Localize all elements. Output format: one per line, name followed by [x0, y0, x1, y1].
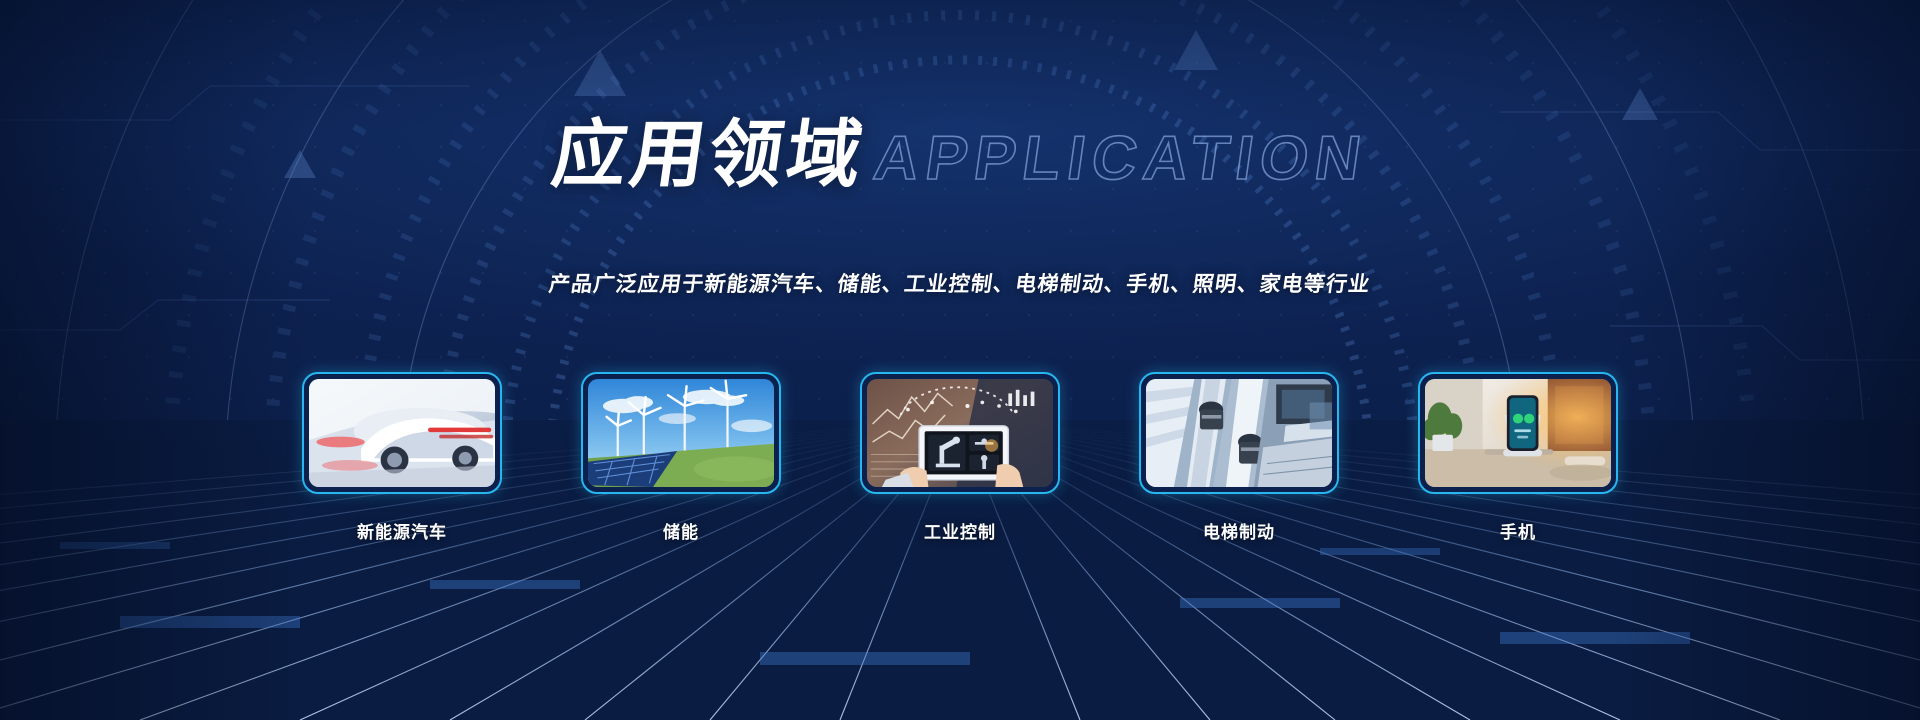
- industrial-control-icon: [867, 379, 1053, 487]
- banner-heading: 应用领域 APPLICATION: [0, 118, 1920, 192]
- page-title-english: APPLICATION: [869, 128, 1371, 192]
- elevator-brake-icon: [1146, 379, 1332, 487]
- energy-storage-icon: [588, 379, 774, 487]
- application-card-industrial-control[interactable]: 工业控制: [860, 372, 1060, 543]
- application-card-energy-storage[interactable]: 储能: [581, 372, 781, 543]
- page-title: 应用领域: [547, 118, 869, 192]
- application-card-list: 新能源汽车: [0, 372, 1920, 543]
- card-label: 储能: [663, 518, 699, 543]
- card-frame: [1418, 372, 1618, 494]
- card-label: 新能源汽车: [357, 518, 447, 543]
- card-frame: [860, 372, 1060, 494]
- mobile-phone-icon: [1425, 379, 1611, 487]
- card-frame: [581, 372, 781, 494]
- card-label: 电梯制动: [1203, 518, 1275, 543]
- application-card-elevator-brake[interactable]: 电梯制动: [1139, 372, 1339, 543]
- card-label: 手机: [1500, 518, 1536, 543]
- application-card-ev-car[interactable]: 新能源汽车: [302, 372, 502, 543]
- card-frame: [302, 372, 502, 494]
- ev-car-icon: [309, 379, 495, 487]
- card-label: 工业控制: [924, 518, 996, 543]
- application-card-mobile-phone[interactable]: 手机: [1418, 372, 1618, 543]
- banner-subtitle: 产品广泛应用于新能源汽车、储能、工业控制、电梯制动、手机、照明、家电等行业: [0, 268, 1920, 298]
- card-frame: [1139, 372, 1339, 494]
- application-banner: 应用领域 APPLICATION 产品广泛应用于新能源汽车、储能、工业控制、电梯…: [0, 0, 1920, 720]
